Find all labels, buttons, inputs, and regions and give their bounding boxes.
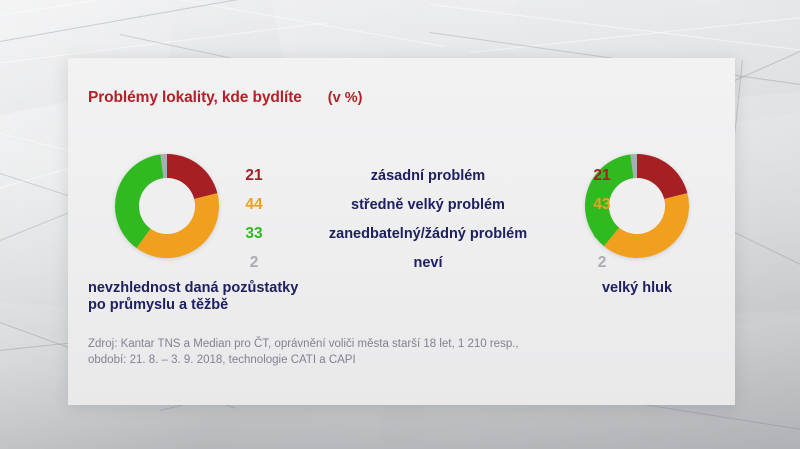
infographic-card: Problémy lokality, kde bydlíte (v %) nev… xyxy=(68,58,735,405)
legend-label: středně velký problém xyxy=(280,197,576,213)
title-unit: (v %) xyxy=(328,90,363,106)
legend-left-value: 2 xyxy=(228,254,280,272)
donut-left-svg xyxy=(111,150,223,262)
legend-row: 21 zásadní problém 21 xyxy=(228,161,628,190)
legend-left-value: 33 xyxy=(228,225,280,243)
legend-right-value: 21 xyxy=(576,167,628,185)
source-line-2: období: 21. 8. – 3. 9. 2018, technologie… xyxy=(88,352,519,368)
donut-right-caption: velký hluk xyxy=(596,280,678,297)
legend-label: neví xyxy=(280,255,576,271)
donut-hole xyxy=(139,178,195,234)
legend-row: 44 středně velký problém 43 xyxy=(228,190,628,219)
legend-left-value: 21 xyxy=(228,167,280,185)
legend: 21 zásadní problém 21 44 středně velký p… xyxy=(228,161,628,277)
legend-row: 2 neví 2 xyxy=(228,248,628,277)
title-row: Problémy lokality, kde bydlíte (v %) xyxy=(88,89,362,107)
page-title: Problémy lokality, kde bydlíte xyxy=(88,89,302,107)
legend-right-value: 43 xyxy=(576,196,628,214)
legend-row: 33 zanedbatelný/žádný problém 34 xyxy=(228,219,628,248)
donut-left-caption: nevzhlednost daná pozůstatky po průmyslu… xyxy=(88,280,298,314)
source-line-1: Zdroj: Kantar TNS a Median pro ČT, opráv… xyxy=(88,336,519,352)
legend-right-value: 2 xyxy=(576,254,628,272)
donut-chart-left xyxy=(111,150,223,262)
source-note: Zdroj: Kantar TNS a Median pro ČT, opráv… xyxy=(88,336,519,368)
legend-label: zásadní problém xyxy=(280,168,576,184)
legend-left-value: 44 xyxy=(228,196,280,214)
legend-right-value: 34 xyxy=(576,225,628,243)
legend-label: zanedbatelný/žádný problém xyxy=(280,226,576,242)
